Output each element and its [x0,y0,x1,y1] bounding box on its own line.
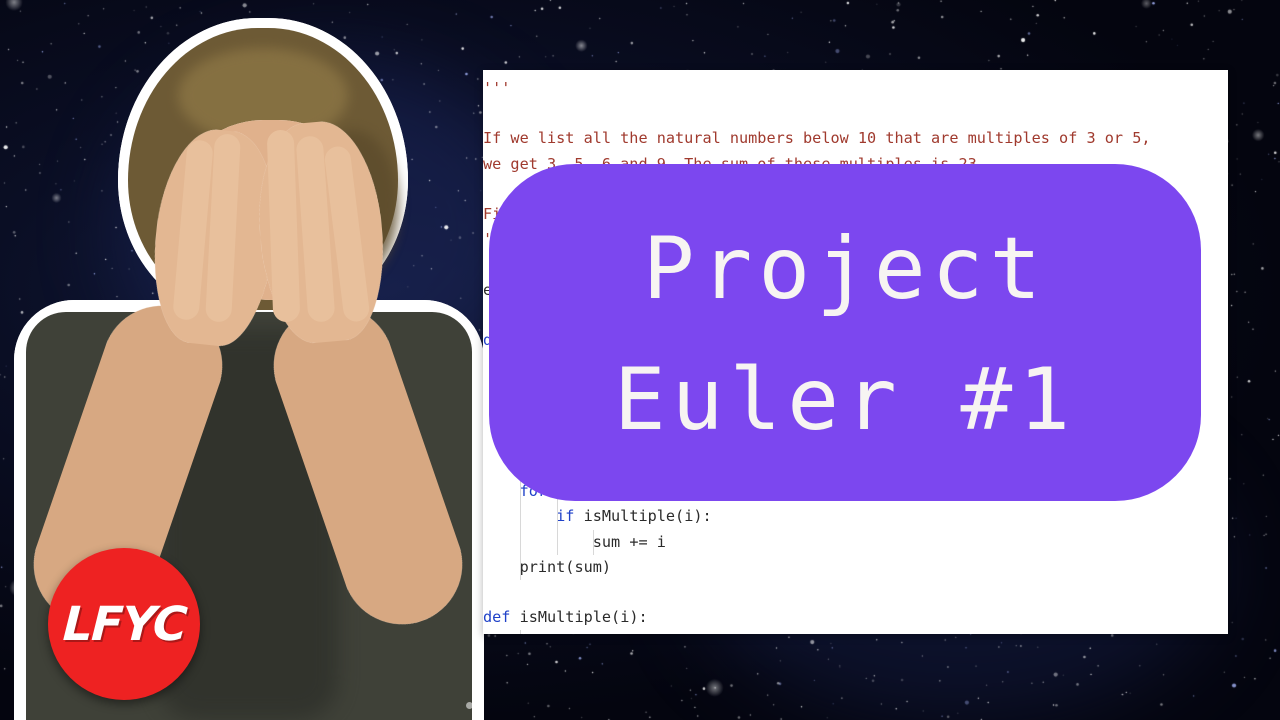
code-line: print(sum) [483,555,1228,580]
video-frame: LFYC ''' If we list all the natural numb… [0,0,1280,720]
code-line: return (i % 3 == 0) or (i % 5 == 0) [483,630,1228,634]
title-line-2: Euler #1 [614,335,1076,466]
code-line: if isMultiple(i): [483,504,1228,529]
code-line: ''' [483,76,1228,101]
title-banner: Project Euler #1 [489,164,1201,501]
title-line-1: Project [643,204,1047,335]
code-line: sum += i [483,530,1228,555]
code-line: def isMultiple(i): [483,605,1228,630]
code-line [483,101,1228,126]
indent-guide [593,530,594,555]
code-line: If we list all the natural numbers below… [483,126,1228,151]
code-line [483,580,1228,605]
video-progress-dot [466,702,473,709]
lfyc-logo-text: LFYC [61,601,186,648]
lfyc-logo: LFYC [48,548,200,700]
indent-guide [520,630,521,634]
